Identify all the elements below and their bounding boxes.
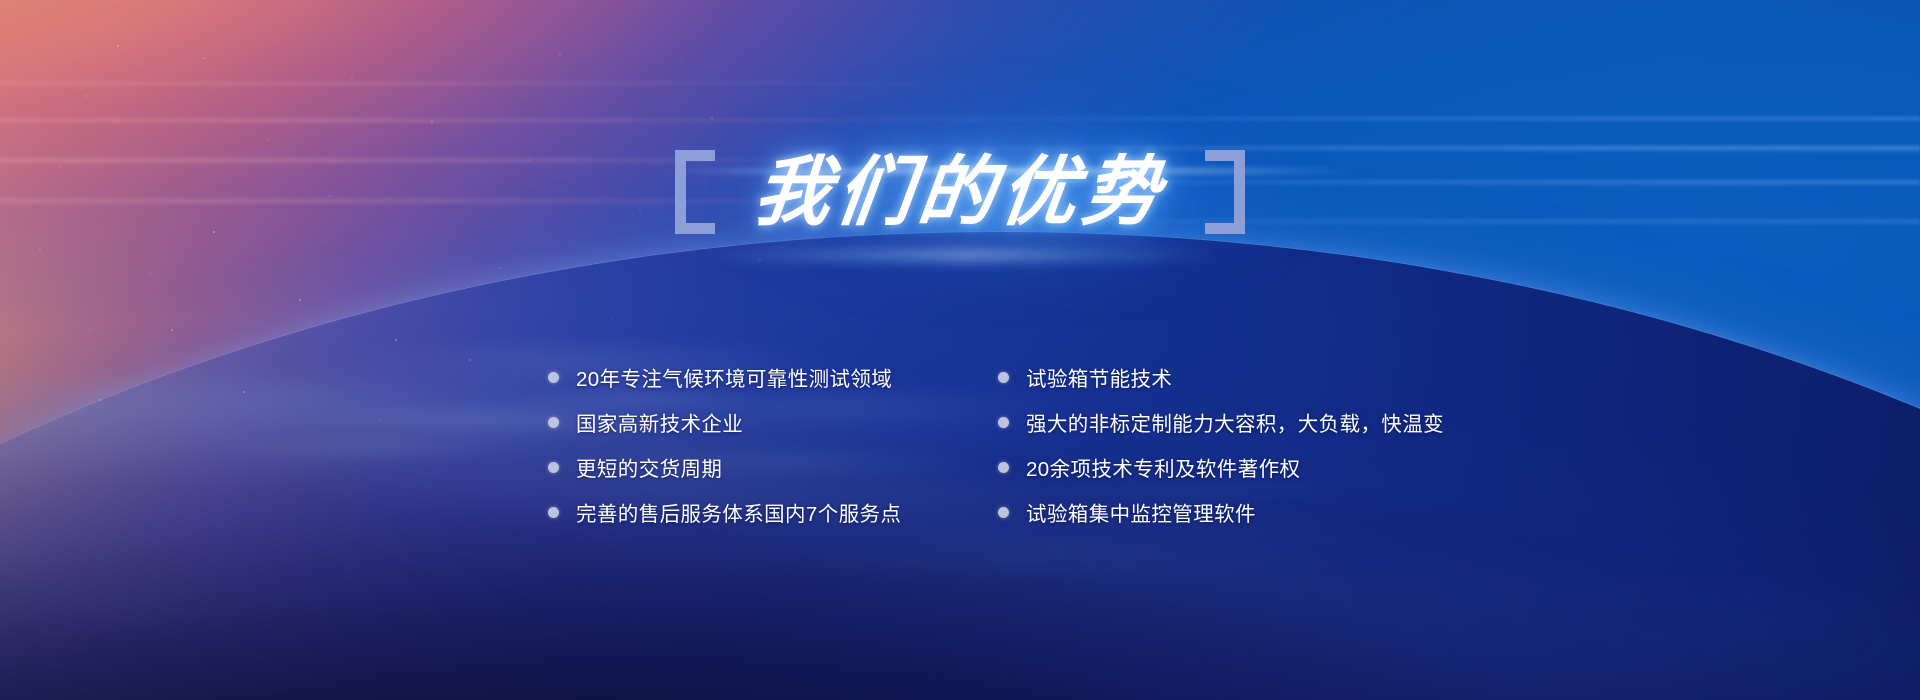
list-item[interactable]: 20余项技术专利及软件著作权 — [998, 445, 1428, 489]
list-item[interactable]: 20年专注气候环境可靠性测试领域 — [548, 355, 998, 399]
list-item[interactable]: 国家高新技术企业 — [548, 400, 998, 444]
bullet-dot-icon — [998, 372, 1009, 383]
list-item-label: 试验箱集中监控管理软件 — [1026, 497, 1256, 527]
starfield — [0, 0, 1920, 700]
list-item-label: 完善的售后服务体系国内7个服务点 — [576, 497, 901, 527]
list-item[interactable]: 试验箱集中监控管理软件 — [998, 490, 1428, 534]
bullet-dot-icon — [548, 507, 559, 518]
advantages-list: 20年专注气候环境可靠性测试领域 国家高新技术企业 更短的交货周期 完善的售后服… — [548, 355, 1428, 535]
bullet-dot-icon — [998, 507, 1009, 518]
advantages-banner: 我们的优势 20年专注气候环境可靠性测试领域 国家高新技术企业 更短的交货周期 … — [0, 0, 1920, 700]
bracket-left-icon — [675, 150, 715, 234]
bullet-dot-icon — [548, 372, 559, 383]
advantages-column-right: 试验箱节能技术 强大的非标定制能力大容积，大负载，快温变 20余项技术专利及软件… — [998, 355, 1428, 535]
bullet-dot-icon — [998, 462, 1009, 473]
bullet-dot-icon — [548, 417, 559, 428]
list-item[interactable]: 强大的非标定制能力大容积，大负载，快温变 — [998, 400, 1428, 444]
page-title: 我们的优势 — [744, 154, 1175, 230]
section-heading: 我们的优势 — [0, 150, 1920, 234]
bullet-dot-icon — [548, 462, 559, 473]
list-item-label: 20余项技术专利及软件著作权 — [1026, 452, 1300, 482]
list-item-label: 试验箱节能技术 — [1026, 362, 1172, 392]
bullet-dot-icon — [998, 417, 1009, 428]
bracket-right-icon — [1205, 150, 1245, 234]
list-item-label: 强大的非标定制能力大容积，大负载，快温变 — [1026, 407, 1444, 437]
list-item-label: 更短的交货周期 — [576, 452, 722, 482]
list-item[interactable]: 完善的售后服务体系国内7个服务点 — [548, 490, 998, 534]
list-item-label: 20年专注气候环境可靠性测试领域 — [576, 362, 892, 392]
advantages-column-left: 20年专注气候环境可靠性测试领域 国家高新技术企业 更短的交货周期 完善的售后服… — [548, 355, 998, 535]
list-item[interactable]: 试验箱节能技术 — [998, 355, 1428, 399]
list-item[interactable]: 更短的交货周期 — [548, 445, 998, 489]
list-item-label: 国家高新技术企业 — [576, 407, 743, 437]
